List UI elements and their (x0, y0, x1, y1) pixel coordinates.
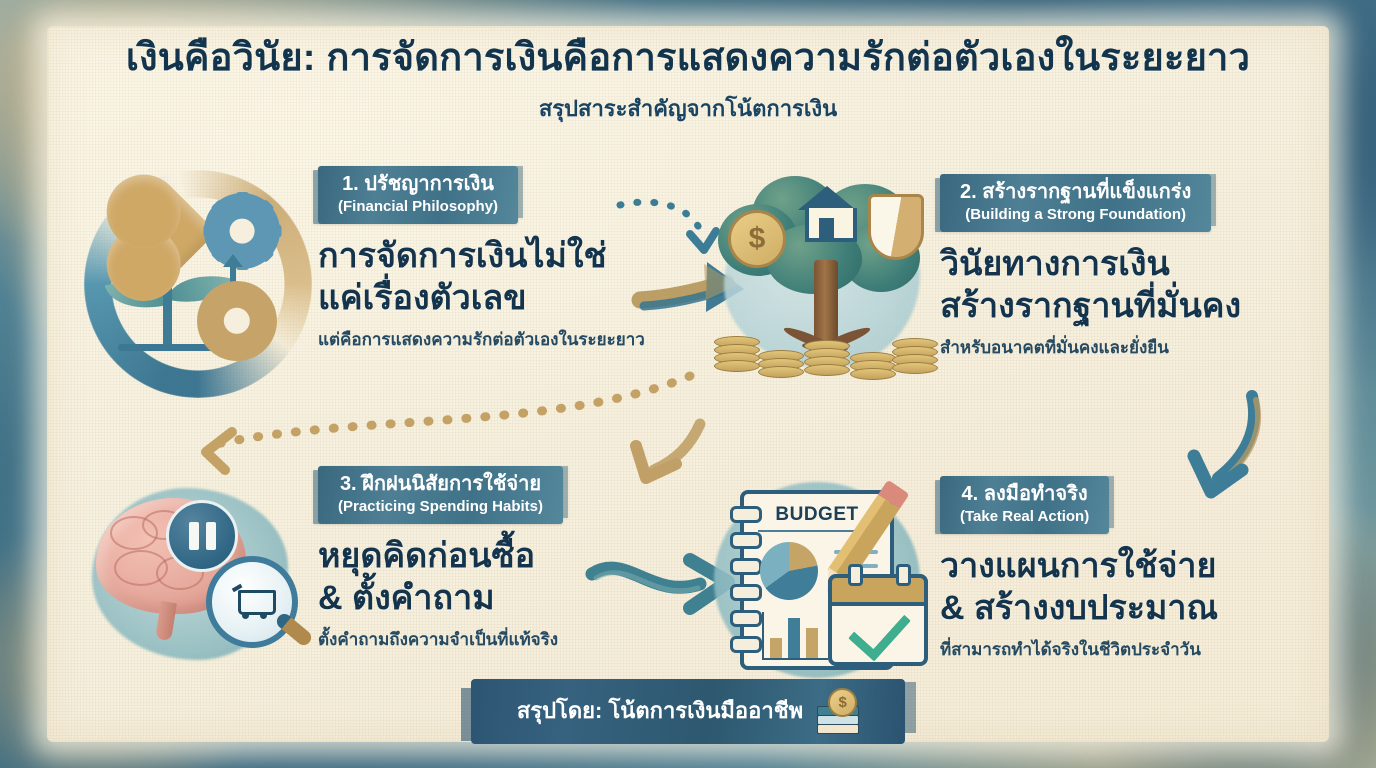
section-3-badge: 3. ฝึกฝนนิสัยการใช้จ่าย (Practicing Spen… (318, 466, 563, 524)
heart-plant-gears-icon (78, 160, 308, 385)
section-2-badge: 2. สร้างรากฐานที่แข็งแกร่ง (Building a S… (940, 174, 1211, 232)
section-3-title-th: 3. ฝึกฝนนิสัยการใช้จ่าย (338, 473, 543, 497)
section-3-headline: หยุดคิดก่อนซื้อ & ตั้งคำถาม (318, 536, 678, 619)
page-title: เงินคือวินัย: การจัดการเงินคือการแสดงควา… (60, 36, 1316, 81)
section-2-headline: วินัยทางการเงิน สร้างรากฐานที่มั่นคง (940, 244, 1310, 327)
section-4-headline-line2: & สร้างงบประมาณ (940, 588, 1310, 629)
page-subtitle: สรุปสาระสำคัญจากโน้ตการเงิน (0, 91, 1376, 126)
section-4-caption: ที่สามารถทำได้จริงในชีวิตประจำวัน (940, 636, 1310, 663)
bar-chart-icon (762, 612, 828, 660)
section-3-headline-line2: & ตั้งคำถาม (318, 578, 678, 619)
section-4: BUDGET (710, 470, 1310, 695)
calendar-icon (828, 574, 928, 666)
footer-coin: $ (828, 688, 857, 717)
gear-teal-icon (211, 200, 273, 262)
section-4-title-en: (Take Real Action) (960, 508, 1089, 526)
section-1-caption: แต่คือการแสดงความรักต่อตัวเองในระยะยาว (318, 326, 688, 353)
tree-trunk (814, 260, 838, 346)
section-3: 3. ฝึกฝนนิสัยการใช้จ่าย (Practicing Spen… (78, 460, 678, 685)
section-1: 1. ปรัชญาการเงิน (Financial Philosophy) … (78, 160, 688, 385)
dollar-coin-icon: $ (728, 210, 786, 268)
section-2: $ (710, 168, 1310, 393)
section-4-badge: 4. ลงมือทำจริง (Take Real Action) (940, 476, 1109, 534)
section-3-headline-line1: หยุดคิดก่อนซื้อ (318, 536, 678, 577)
sections-grid: 1. ปรัชญาการเงิน (Financial Philosophy) … (60, 160, 1320, 690)
section-2-caption: สำหรับอนาคตที่มั่นคงและยั่งยืน (940, 334, 1310, 361)
section-2-title-en: (Building a Strong Foundation) (960, 206, 1191, 224)
poster-footer: สรุปโดย: โน้ตการเงินมืออาชีพ $ (0, 679, 1376, 744)
section-2-title-th: 2. สร้างรากฐานที่แข็งแกร่ง (960, 181, 1191, 205)
section-1-headline-line1: การจัดการเงินไม่ใช่ (318, 236, 688, 277)
shield-icon (868, 194, 924, 260)
pie-chart-icon (760, 542, 818, 600)
section-1-text: 1. ปรัชญาการเงิน (Financial Philosophy) … (308, 160, 688, 353)
section-2-headline-line1: วินัยทางการเงิน (940, 244, 1310, 285)
ground-line (118, 344, 228, 351)
section-3-caption: ตั้งคำถามถึงความจำเป็นที่แท้จริง (318, 626, 678, 653)
money-tree-icon: $ (710, 168, 940, 393)
section-2-text: 2. สร้างรากฐานที่แข็งแกร่ง (Building a S… (940, 168, 1310, 361)
section-2-headline-line2: สร้างรากฐานที่มั่นคง (940, 286, 1310, 327)
budget-notebook-icon: BUDGET (710, 470, 940, 695)
section-1-title-en: (Financial Philosophy) (338, 198, 498, 216)
footer-ribbon: สรุปโดย: โน้ตการเงินมืออาชีพ $ (471, 679, 905, 744)
section-1-headline: การจัดการเงินไม่ใช่ แค่เรื่องตัวเลข (318, 236, 688, 319)
coin-on-books-icon: $ (817, 690, 859, 730)
section-4-headline: วางแผนการใช้จ่าย & สร้างงบประมาณ (940, 546, 1310, 629)
checkmark-icon (848, 597, 911, 661)
section-1-headline-line2: แค่เรื่องตัวเลข (318, 278, 688, 319)
section-1-badge: 1. ปรัชญาการเงิน (Financial Philosophy) (318, 166, 518, 224)
poster-header: เงินคือวินัย: การจัดการเงินคือการแสดงควา… (0, 36, 1376, 126)
magnifier-icon (206, 556, 298, 648)
house-icon (798, 186, 856, 238)
section-3-text: 3. ฝึกฝนนิสัยการใช้จ่าย (Practicing Spen… (308, 460, 678, 653)
section-1-title-th: 1. ปรัชญาการเงิน (338, 173, 498, 197)
shopping-cart-icon (232, 586, 272, 618)
section-3-title-en: (Practicing Spending Habits) (338, 498, 543, 516)
section-4-headline-line1: วางแผนการใช้จ่าย (940, 546, 1310, 587)
section-4-text: 4. ลงมือทำจริง (Take Real Action) วางแผน… (940, 470, 1310, 663)
infographic-poster: เงินคือวินัย: การจัดการเงินคือการแสดงควา… (0, 0, 1376, 768)
footer-credit: สรุปโดย: โน้ตการเงินมืออาชีพ (517, 693, 803, 728)
gear-gold-icon (204, 288, 270, 354)
section-4-title-th: 4. ลงมือทำจริง (960, 483, 1089, 507)
brain-pause-magnifier-icon (78, 460, 308, 685)
pause-button-icon (166, 500, 238, 572)
